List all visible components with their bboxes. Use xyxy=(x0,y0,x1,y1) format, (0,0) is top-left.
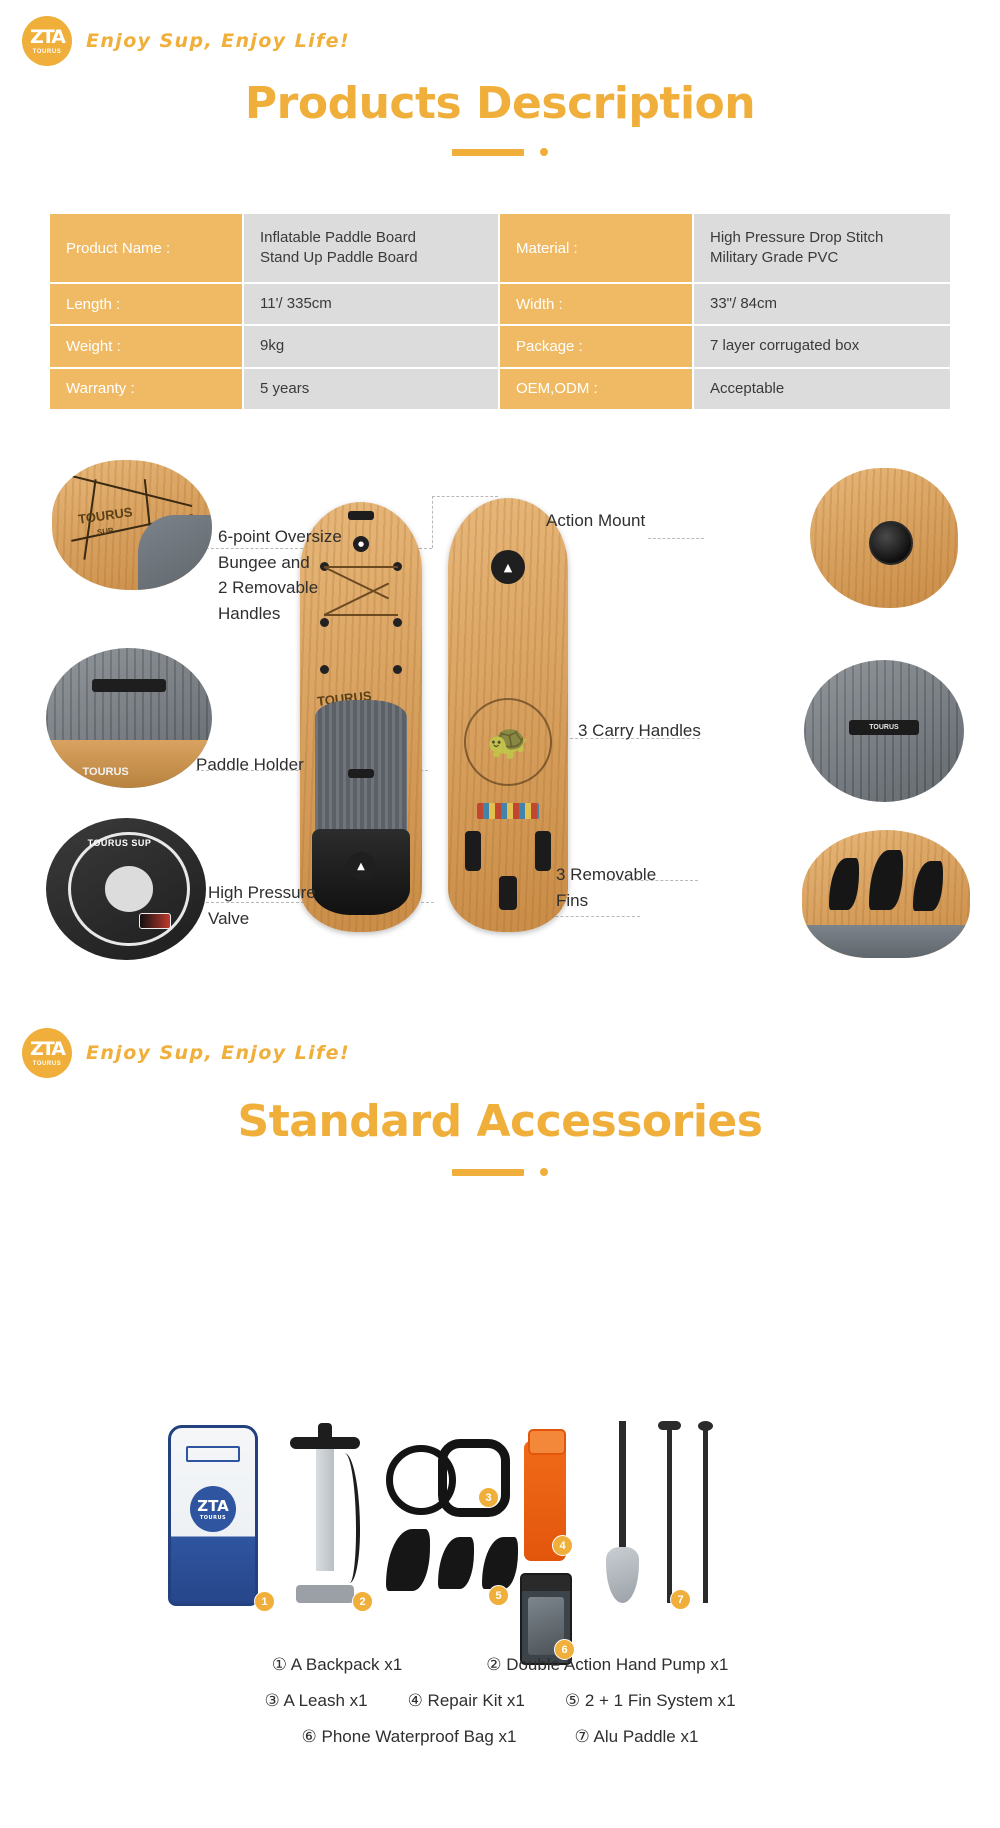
callout-high-pressure-valve: High Pressure Valve xyxy=(208,880,358,931)
legend-item-5: ⑤ 2 + 1 Fin System x1 xyxy=(565,1691,736,1711)
page-title-products-description: Products Description xyxy=(0,78,1000,129)
accessory-badge-1: 1 xyxy=(254,1591,275,1612)
table-row: Length : 11'/ 335cm Width : 33"/ 84cm xyxy=(50,284,950,324)
board-bottom-view: ▲ 🐢 xyxy=(448,498,568,932)
thumbnail-carry-handle: TOURUS xyxy=(804,660,964,802)
callout-carry-handles: 3 Carry Handles xyxy=(578,718,701,744)
callout-removable-fins: 3 Removable Fins xyxy=(556,862,686,913)
accessories-legend: ① A Backpack x1 ② Double Action Hand Pum… xyxy=(0,1655,1000,1763)
legend-item-1: ① A Backpack x1 xyxy=(272,1655,403,1675)
paddle-handle-image xyxy=(698,1421,712,1603)
table-row: Warranty : 5 years OEM,ODM : Acceptable xyxy=(50,369,950,409)
logo-monogram: ZTA xyxy=(30,28,64,47)
accessory-alu-paddle xyxy=(604,1421,712,1603)
tourus-logo-icon: ZTA TOURUS xyxy=(22,1028,72,1078)
logo-wordmark: TOURUS xyxy=(200,1515,226,1521)
backpack-strip xyxy=(186,1446,240,1462)
paddle-blade-image xyxy=(604,1421,640,1603)
spec-key-weight: Weight : xyxy=(50,326,242,366)
spec-value-product-name: Inflatable Paddle Board Stand Up Paddle … xyxy=(244,214,498,282)
specifications-table: Product Name : Inflatable Paddle Board S… xyxy=(48,212,952,411)
spec-value-material: High Pressure Drop Stitch Military Grade… xyxy=(694,214,950,282)
callout-action-mount: Action Mount xyxy=(546,508,645,534)
connector-line xyxy=(432,496,433,548)
accessory-hand-pump: 2 xyxy=(290,1423,360,1603)
brand-tagline-top: Enjoy Sup, Enjoy Life! xyxy=(86,30,350,52)
thumb-brand-text: TOURUS xyxy=(83,766,129,778)
accessory-badge-5: 5 xyxy=(488,1585,509,1606)
divider-bar xyxy=(452,149,524,156)
spec-key-width: Width : xyxy=(500,284,692,324)
thumbnail-bungee-deck: TOURUS SUP xyxy=(52,460,212,590)
fins-image xyxy=(386,1523,536,1601)
spec-value-width: 33"/ 84cm xyxy=(694,284,950,324)
spec-key-material: Material : xyxy=(500,214,692,282)
legend-item-7: ⑦ Alu Paddle x1 xyxy=(575,1727,699,1747)
legend-row: ① A Backpack x1 ② Double Action Hand Pum… xyxy=(0,1655,1000,1675)
brand-tagline-bottom: Enjoy Sup, Enjoy Life! xyxy=(86,1042,350,1064)
legend-item-2: ② Double Action Hand Pump x1 xyxy=(486,1655,728,1675)
spec-value-package: 7 layer corrugated box xyxy=(694,326,950,366)
spec-value-weight: 9kg xyxy=(244,326,498,366)
page-title-standard-accessories: Standard Accessories xyxy=(0,1096,1000,1147)
backpack-image: ZTA TOURUS xyxy=(168,1425,258,1606)
accessory-badge-4: 4 xyxy=(552,1535,573,1556)
connector-line xyxy=(432,496,498,497)
logo-monogram: ZTA xyxy=(197,1497,229,1515)
title-divider-products xyxy=(0,148,1000,156)
thumbnail-paddle-holder: TOURUS xyxy=(46,648,212,788)
spec-value-oem-odm: Acceptable xyxy=(694,369,950,409)
legend-item-6: ⑥ Phone Waterproof Bag x1 xyxy=(302,1727,517,1747)
product-description-page: ZTA TOURUS Enjoy Sup, Enjoy Life! Produc… xyxy=(0,0,1000,1828)
paddle-shaft-image xyxy=(662,1421,676,1603)
accessory-badge-2: 2 xyxy=(352,1591,373,1612)
board-logo-text: TOURUS xyxy=(77,505,133,527)
connector-line xyxy=(648,538,704,539)
logo-wordmark: TOURUS xyxy=(33,49,62,55)
table-row: Weight : 9kg Package : 7 layer corrugate… xyxy=(50,326,950,366)
spec-key-length: Length : xyxy=(50,284,242,324)
callout-paddle-holder: Paddle Holder xyxy=(196,752,304,778)
brand-header-bottom: ZTA TOURUS Enjoy Sup, Enjoy Life! xyxy=(22,1028,350,1078)
spec-key-oem-odm: OEM,ODM : xyxy=(500,369,692,409)
thumbnail-high-pressure-valve: TOURUS SUP xyxy=(46,818,206,960)
spec-key-product-name: Product Name : xyxy=(50,214,242,282)
accessory-badge-7: 7 xyxy=(670,1589,691,1610)
handle-brand-text: TOURUS xyxy=(869,724,898,731)
tourus-logo-icon: ZTA TOURUS xyxy=(22,16,72,66)
title-divider-accessories xyxy=(0,1168,1000,1176)
table-row: Product Name : Inflatable Paddle Board S… xyxy=(50,214,950,282)
accessory-backpack: ZTA TOURUS 1 xyxy=(168,1425,258,1606)
leash-image xyxy=(386,1431,516,1523)
spec-key-warranty: Warranty : xyxy=(50,369,242,409)
legend-row: ⑥ Phone Waterproof Bag x1 ⑦ Alu Paddle x… xyxy=(0,1727,1000,1747)
accessory-badge-3: 3 xyxy=(478,1487,499,1508)
logo-monogram: ZTA xyxy=(30,1040,64,1059)
thumbnail-removable-fins xyxy=(802,830,970,958)
legend-item-4: ④ Repair Kit x1 xyxy=(408,1691,525,1711)
divider-bar xyxy=(452,1169,524,1176)
accessory-fin-system: 5 xyxy=(386,1523,536,1601)
accessory-phone-bag: 6 xyxy=(520,1573,572,1665)
brand-header-top: ZTA TOURUS Enjoy Sup, Enjoy Life! xyxy=(22,16,350,66)
valve-label-text: TOURUS SUP xyxy=(88,838,152,848)
legend-row: ③ A Leash x1 ④ Repair Kit x1 ⑤ 2 + 1 Fin… xyxy=(0,1691,1000,1711)
logo-wordmark: TOURUS xyxy=(33,1061,62,1067)
divider-dot xyxy=(540,1168,548,1176)
accessories-gallery: ZTA TOURUS 1 2 3 xyxy=(0,1415,1000,1655)
legend-item-3: ③ A Leash x1 xyxy=(264,1691,367,1711)
accessory-leash: 3 xyxy=(386,1431,516,1523)
spec-value-warranty: 5 years xyxy=(244,369,498,409)
spec-value-length: 11'/ 335cm xyxy=(244,284,498,324)
spec-key-package: Package : xyxy=(500,326,692,366)
feature-diagram: TOURUS SUP TOURUS TOURUS SUP ● xyxy=(0,440,1000,980)
pump-image xyxy=(290,1423,360,1603)
thumbnail-action-mount xyxy=(810,468,958,608)
board-sup-text: SUP xyxy=(97,526,115,537)
accessory-repair-kit: 4 xyxy=(524,1441,566,1561)
divider-dot xyxy=(540,148,548,156)
backpack-logo-icon: ZTA TOURUS xyxy=(190,1486,236,1532)
callout-bungee-handles: 6-point Oversize Bungee and 2 Removable … xyxy=(218,524,398,626)
